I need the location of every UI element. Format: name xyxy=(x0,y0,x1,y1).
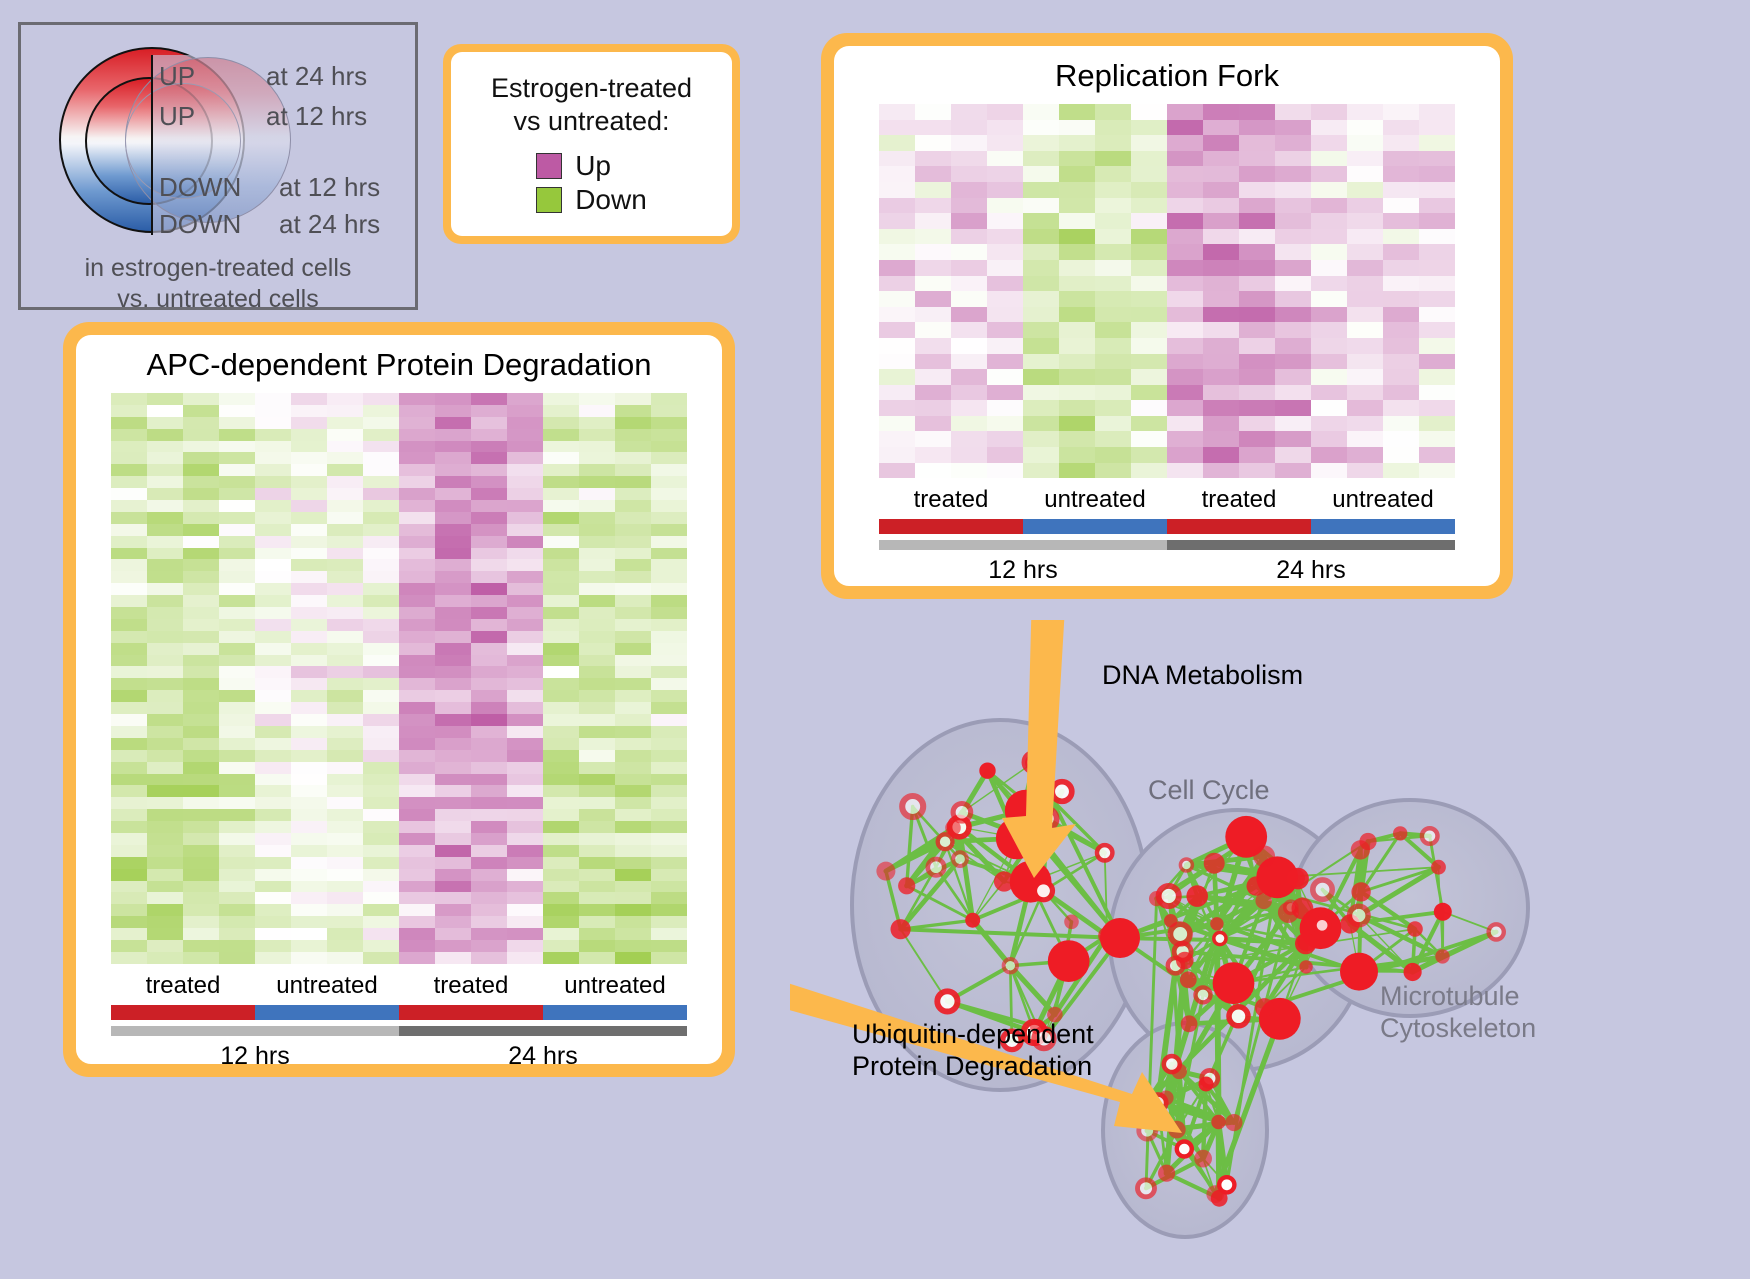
apc-bar-12hrs xyxy=(111,1026,399,1036)
apc-group-label-1: untreated xyxy=(255,972,399,1000)
cluster-label-dna-metabolism: DNA Metabolism xyxy=(1102,660,1303,691)
ubiquitin-label-line2: Protein Degradation xyxy=(852,1050,1094,1082)
rep-bar-treated-12 xyxy=(879,519,1023,534)
up-swatch-icon xyxy=(536,153,562,179)
apc-time-label-0: 12 hrs xyxy=(111,1042,399,1071)
figure-root: UP at 24 hrs UP at 12 hrs DOWN at 12 hrs… xyxy=(0,0,1750,1279)
apc-time-labels: 12 hrs 24 hrs xyxy=(111,1042,687,1071)
panel-apc-degradation: APC-dependent Protein Degradation treate… xyxy=(63,322,735,1077)
legend-caption: in estrogen-treated cells vs. untreated … xyxy=(21,253,415,314)
heatmap-replication xyxy=(879,104,1455,478)
rep-time-label-1: 24 hrs xyxy=(1167,556,1455,585)
legend-state-3: DOWN xyxy=(159,209,241,240)
apc-group-label-0: treated xyxy=(111,972,255,1000)
apc-group-label-3: untreated xyxy=(543,972,687,1000)
legend-time-3: at 24 hrs xyxy=(279,209,380,240)
estrogen-key-item-up: Up xyxy=(536,150,647,182)
rep-bar-24hrs xyxy=(1167,540,1455,550)
apc-time-bar xyxy=(111,1026,687,1036)
down-swatch-icon xyxy=(536,187,562,213)
apc-group-labels: treated untreated treated untreated xyxy=(111,972,687,1000)
cluster-label-microtubule: Microtubule Cytoskeleton xyxy=(1380,980,1536,1045)
cluster-label-cell-cycle: Cell Cycle xyxy=(1148,775,1270,806)
panel-apc-title: APC-dependent Protein Degradation xyxy=(147,347,652,383)
apc-group-label-2: treated xyxy=(399,972,543,1000)
rep-bar-12hrs xyxy=(879,540,1167,550)
rep-bar-untreated-12 xyxy=(1023,519,1167,534)
rep-group-labels: treated untreated treated untreated xyxy=(879,486,1455,514)
ring-axis-line xyxy=(151,55,153,235)
legend-state-2: DOWN xyxy=(159,172,241,203)
apc-bar-24hrs xyxy=(399,1026,687,1036)
rep-group-label-1: untreated xyxy=(1023,486,1167,514)
rep-group-label-0: treated xyxy=(879,486,1023,514)
apc-bar-untreated-12 xyxy=(255,1005,399,1020)
microtubule-label-line2: Cytoskeleton xyxy=(1380,1012,1536,1044)
panel-replication-fork: Replication Fork treated untreated treat… xyxy=(821,33,1513,599)
microtubule-label-line1: Microtubule xyxy=(1380,980,1536,1012)
estrogen-key-item-down: Down xyxy=(536,184,647,216)
legend-time-0: at 24 hrs xyxy=(266,61,367,92)
rep-time-bar xyxy=(879,540,1455,550)
legend-caption-line2: vs. untreated cells xyxy=(21,284,415,315)
legend-state-1: UP xyxy=(159,101,195,132)
apc-time-label-1: 24 hrs xyxy=(399,1042,687,1071)
expression-color-legend: UP at 24 hrs UP at 12 hrs DOWN at 12 hrs… xyxy=(18,22,418,310)
rep-bar-untreated-24 xyxy=(1311,519,1455,534)
legend-time-2: at 12 hrs xyxy=(279,172,380,203)
pathway-network-diagram: DNA Metabolism Cell Cycle Microtubule Cy… xyxy=(790,620,1750,1279)
legend-state-0: UP xyxy=(159,61,195,92)
up-label: Up xyxy=(575,150,611,182)
apc-treatment-bar xyxy=(111,1005,687,1020)
legend-caption-line1: in estrogen-treated cells xyxy=(21,253,415,284)
rep-group-label-2: treated xyxy=(1167,486,1311,514)
estrogen-key-box: Estrogen-treated vs untreated: Up Down xyxy=(443,44,740,244)
panel-replication-title: Replication Fork xyxy=(1055,58,1279,94)
rep-time-labels: 12 hrs 24 hrs xyxy=(879,556,1455,585)
apc-bar-treated-12 xyxy=(111,1005,255,1020)
estrogen-key-title-line1: Estrogen-treated xyxy=(491,72,692,104)
estrogen-key-title-line2: vs untreated: xyxy=(491,105,692,137)
rep-group-label-3: untreated xyxy=(1311,486,1455,514)
heatmap-apc xyxy=(111,393,687,964)
legend-time-1: at 12 hrs xyxy=(266,101,367,132)
rep-time-label-0: 12 hrs xyxy=(879,556,1167,585)
down-label: Down xyxy=(575,184,647,216)
cluster-label-ubiquitin: Ubiquitin-dependent Protein Degradation xyxy=(852,1018,1094,1083)
network-svg xyxy=(790,620,1750,1279)
rep-bar-treated-24 xyxy=(1167,519,1311,534)
rep-treatment-bar xyxy=(879,519,1455,534)
apc-bar-untreated-24 xyxy=(543,1005,687,1020)
ubiquitin-label-line1: Ubiquitin-dependent xyxy=(852,1018,1094,1050)
apc-bar-treated-24 xyxy=(399,1005,543,1020)
